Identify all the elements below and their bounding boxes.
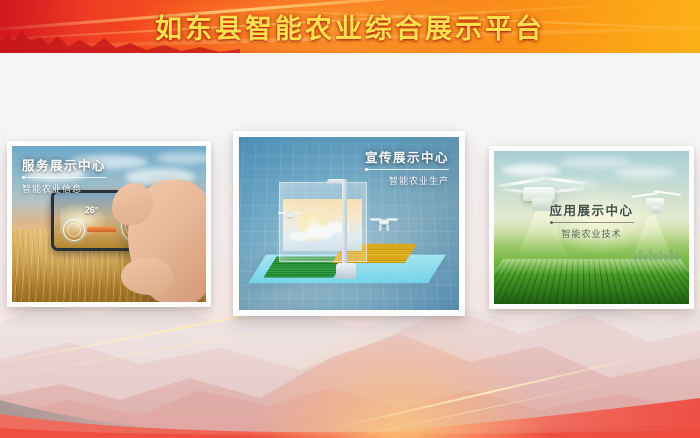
page-title: 如东县智能农业综合展示平台 bbox=[0, 0, 700, 53]
lamp-base bbox=[336, 263, 356, 279]
divider-dot bbox=[365, 168, 368, 171]
cloud-icon bbox=[560, 157, 632, 168]
divider-dot bbox=[549, 221, 552, 224]
card-application-caption: 应用展示中心 智能农业技术 bbox=[549, 203, 633, 240]
header-banner: 如东县智能农业综合展示平台 bbox=[0, 0, 700, 53]
drone-icon bbox=[279, 210, 301, 220]
card-service-image: 26° 服务展示中心 智能农业信息 bbox=[12, 146, 206, 302]
hud-data-chip bbox=[87, 227, 116, 232]
card-promotion-title: 宣传展示中心 bbox=[365, 150, 449, 165]
divider-dot bbox=[22, 176, 25, 179]
card-application-display-center[interactable]: 应用展示中心 智能农业技术 bbox=[489, 146, 694, 309]
card-promotion-caption: 宣传展示中心 智能农业生产 bbox=[365, 150, 449, 187]
thumb bbox=[112, 183, 153, 225]
card-promotion-subtitle: 智能农业生产 bbox=[365, 174, 449, 187]
drone-icon bbox=[370, 215, 398, 228]
crop-rows bbox=[494, 259, 689, 304]
card-promotion-image: 宣传展示中心 智能农业生产 bbox=[239, 137, 459, 310]
card-application-title: 应用展示中心 bbox=[549, 203, 633, 218]
card-promotion-display-center[interactable]: 宣传展示中心 智能农业生产 bbox=[233, 131, 465, 316]
card-application-subtitle: 智能农业技术 bbox=[549, 227, 633, 240]
card-service-title: 服务展示中心 bbox=[22, 158, 106, 173]
spray-drone-small-icon bbox=[631, 188, 682, 222]
fingers bbox=[121, 258, 173, 295]
page-root: 如东县智能农业综合展示平台 26° 服 bbox=[0, 0, 700, 438]
cloud-icon bbox=[615, 166, 675, 179]
caption-divider bbox=[22, 177, 106, 178]
temperature-readout: 26° bbox=[85, 205, 99, 215]
card-application-image: 应用展示中心 智能农业技术 bbox=[494, 151, 689, 304]
card-service-display-center[interactable]: 26° 服务展示中心 智能农业信息 bbox=[7, 141, 211, 307]
hud-ring-icon bbox=[63, 219, 85, 241]
city-skyline bbox=[632, 247, 683, 261]
smart-lamp-pole bbox=[342, 179, 347, 266]
card-service-subtitle: 智能农业信息 bbox=[22, 182, 106, 195]
caption-divider bbox=[365, 169, 449, 170]
card-service-caption: 服务展示中心 智能农业信息 bbox=[22, 158, 106, 195]
hand-holding-phone bbox=[128, 180, 206, 302]
caption-divider bbox=[549, 222, 633, 223]
